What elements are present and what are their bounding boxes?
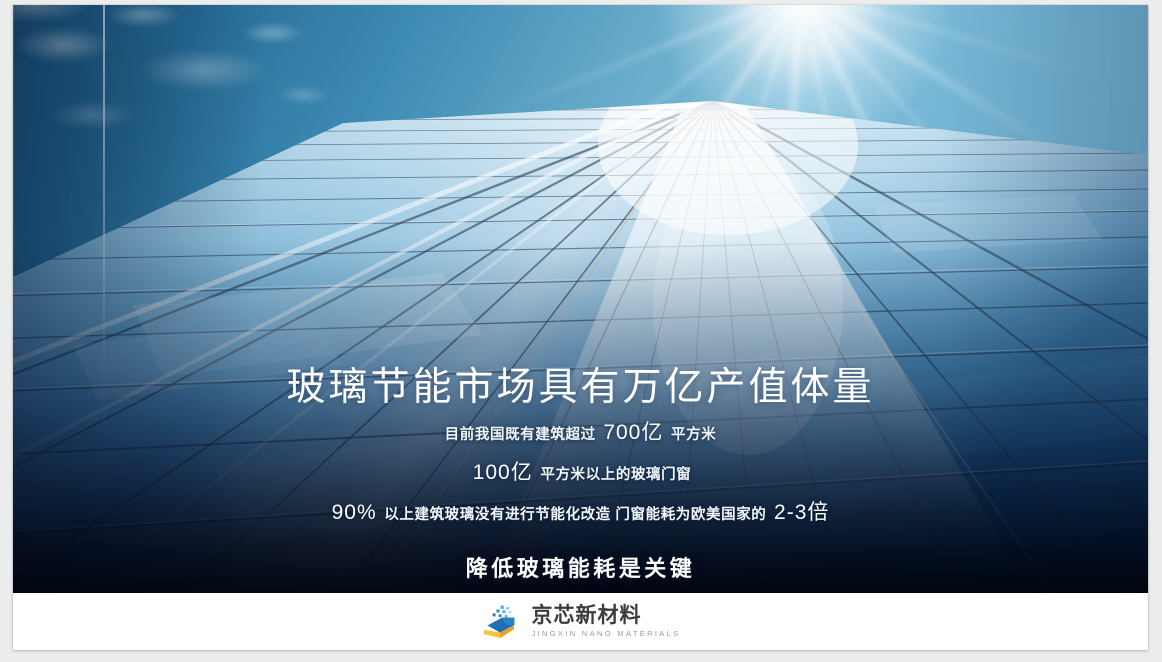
logo-mark-icon	[480, 605, 522, 639]
hero-background-image: 玻璃节能市场具有万亿产值体量 目前我国既有建筑超过 700亿 平方米 100亿 …	[13, 5, 1148, 593]
subtitle-3-figure: 90%	[329, 501, 380, 524]
logo-name-en: JINGXIN NANO MATERIALS	[531, 629, 680, 638]
subtitle-line-1: 目前我国既有建筑超过 700亿 平方米	[13, 415, 1148, 451]
subtitle-3-figure-2: 2-3倍	[771, 501, 832, 524]
subtitle-2-figure: 100亿	[470, 461, 536, 484]
subtitle-3-post: 以上建筑玻璃没有进行节能化改造 门窗能耗为欧美国家的	[384, 507, 766, 523]
subtitle-1-pre: 目前我国既有建筑超过	[445, 427, 596, 443]
footer-bar: 京芯新材料 JINGXIN NANO MATERIALS	[13, 593, 1148, 650]
logo-wordmark: 京芯新材料 JINGXIN NANO MATERIALS	[531, 605, 680, 638]
subtitle-line-3: 90% 以上建筑玻璃没有进行节能化改造 门窗能耗为欧美国家的 2-3倍	[13, 495, 1148, 531]
key-message: 降低玻璃能耗是关键	[13, 551, 1148, 583]
subtitle-1-post: 平方米	[671, 427, 716, 443]
slide-card: 玻璃节能市场具有万亿产值体量 目前我国既有建筑超过 700亿 平方米 100亿 …	[13, 5, 1148, 650]
logo-name-cn: 京芯新材料	[531, 605, 641, 627]
subtitle-line-2: 100亿 平方米以上的玻璃门窗	[13, 455, 1148, 491]
company-logo: 京芯新材料 JINGXIN NANO MATERIALS	[480, 605, 680, 639]
subtitle-1-figure: 700亿	[600, 421, 666, 444]
page-title: 玻璃节能市场具有万亿产值体量	[13, 365, 1148, 411]
headline-block: 玻璃节能市场具有万亿产值体量 目前我国既有建筑超过 700亿 平方米 100亿 …	[13, 365, 1148, 583]
subtitle-2-post: 平方米以上的玻璃门窗	[540, 467, 691, 483]
